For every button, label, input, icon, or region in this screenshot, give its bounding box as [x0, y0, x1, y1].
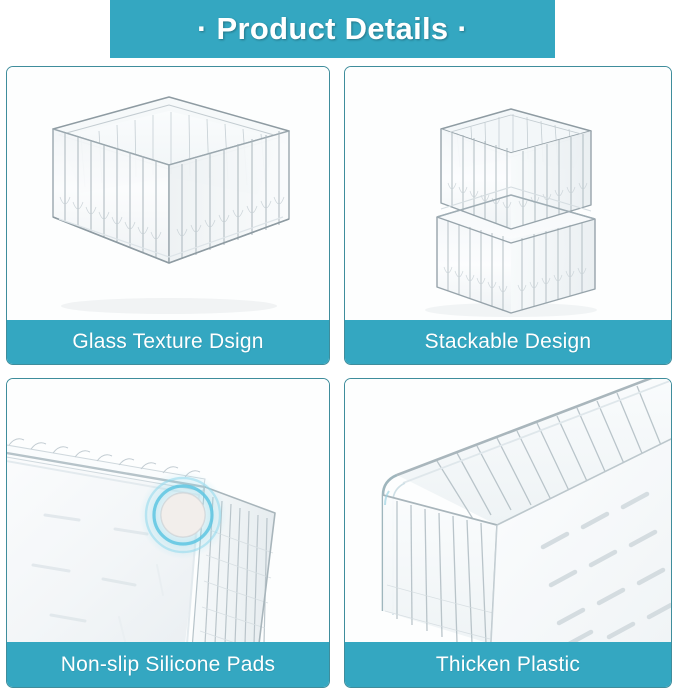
- product-card-stackable[interactable]: Stackable Design: [344, 66, 672, 365]
- product-card-glass-texture[interactable]: Glass Texture Dsign: [6, 66, 330, 365]
- product-photo-silicone-pads: [7, 379, 329, 642]
- card-caption-text: Stackable Design: [425, 330, 592, 354]
- card-caption-text: Non-slip Silicone Pads: [61, 653, 276, 677]
- bin-corner-illustration: [345, 379, 671, 642]
- card-caption-bar: Thicken Plastic: [345, 642, 671, 687]
- product-photo-thicken-plastic: [345, 379, 671, 642]
- product-photo-stackable: [345, 67, 671, 320]
- stacked-bins-illustration: [345, 67, 671, 320]
- card-caption-text: Glass Texture Dsign: [72, 330, 263, 354]
- bin-underside-illustration: [7, 379, 329, 642]
- product-card-silicone-pads[interactable]: Non-slip Silicone Pads: [6, 378, 330, 688]
- header-banner: · Product Details ·: [110, 0, 555, 58]
- card-caption-text: Thicken Plastic: [436, 653, 580, 677]
- product-photo-glass-texture: [7, 67, 329, 320]
- product-card-thicken-plastic[interactable]: Thicken Plastic: [344, 378, 672, 688]
- silicone-pad-highlight: [139, 471, 227, 559]
- card-caption-bar: Non-slip Silicone Pads: [7, 642, 329, 687]
- card-caption-bar: Stackable Design: [345, 320, 671, 364]
- product-details-grid: Glass Texture Dsign: [0, 66, 679, 688]
- header: · Product Details ·: [0, 0, 679, 64]
- page-title: · Product Details ·: [197, 11, 468, 47]
- card-caption-bar: Glass Texture Dsign: [7, 320, 329, 364]
- clear-bin-illustration: [7, 67, 329, 320]
